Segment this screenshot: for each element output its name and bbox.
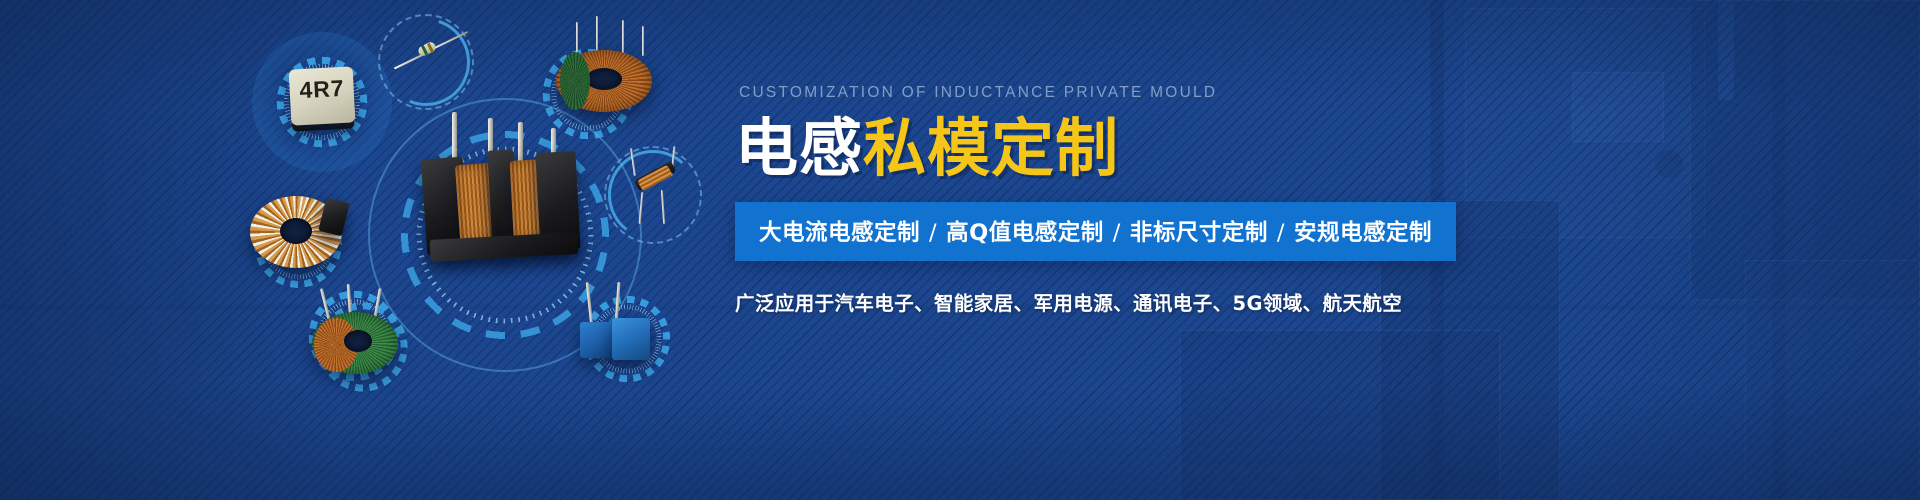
inductance-hero-banner: 4R7 [0,0,1920,500]
smd-inductor-marking: 4R7 [289,74,354,104]
toroid-core-hole [280,218,312,244]
tag-separator: / [920,220,946,246]
toroid-lead [642,26,644,56]
banner-content: CUSTOMIZATION OF INDUCTANCE PRIVATE MOUL… [735,84,1415,335]
page-title: 电感私模定制 [735,116,1415,182]
toroid-lead [576,22,578,56]
headline-gold-part: 私模定制 [863,112,1119,185]
toroid-lead [622,20,624,54]
feature-tag-0[interactable]: 大电流电感定制 [759,220,920,246]
feature-tag-1[interactable]: 高Q值电感定制 [946,220,1104,246]
banner-eyebrow: CUSTOMIZATION OF INDUCTANCE PRIVATE MOUL… [739,84,1415,102]
toroid-lead [596,16,598,54]
toroid-green-section [560,52,590,110]
tag-separator: / [1268,220,1294,246]
feature-tag-bar: 大电流电感定制/高Q值电感定制/非标尺寸定制/安规电感定制 [735,202,1456,261]
banner-description: 广泛应用于汽车电子、智能家居、军用电源、通讯电子、5G领域、航天航空 [735,287,1415,316]
headline-white-part: 电感 [735,112,863,185]
feature-tag-3[interactable]: 安规电感定制 [1294,220,1432,246]
blue-inductor-body-left [580,322,614,358]
tag-separator: / [1104,220,1130,246]
toroid-core-hole [344,330,372,352]
blue-inductor-body-right [612,318,650,360]
feature-tag-2[interactable]: 非标尺寸定制 [1130,220,1268,246]
toroid-core-hole [586,68,622,90]
